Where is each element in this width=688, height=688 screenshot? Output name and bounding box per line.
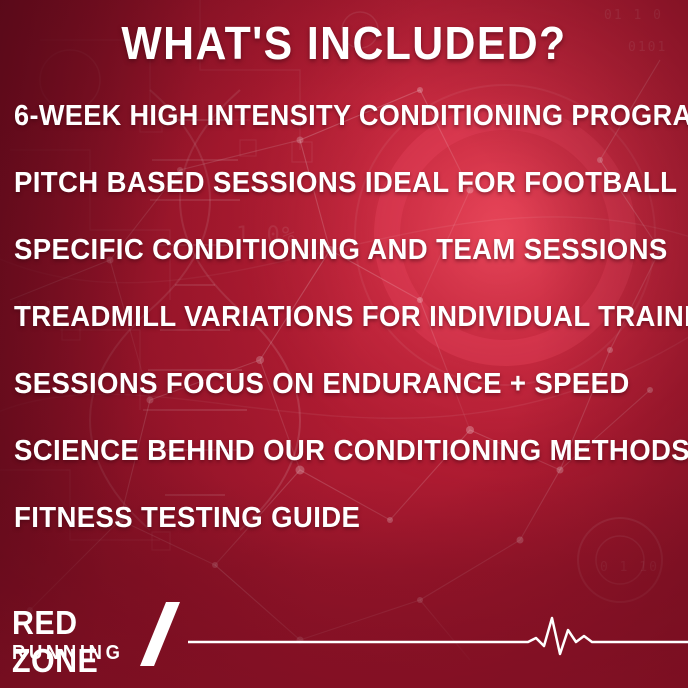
- logo-line-secondary: RUNNING: [12, 642, 124, 665]
- list-item: SPECIFIC CONDITIONING AND TEAM SESSIONS: [14, 234, 641, 266]
- list-item: SCIENCE BEHIND OUR CONDITIONING METHODS: [14, 435, 641, 467]
- page-title: WHAT'S INCLUDED?: [24, 16, 664, 70]
- poster-canvas: 01 1 0 0101 1 0% 10 1 0 1 10 WHAT'S INCL…: [0, 0, 688, 688]
- footer: RED ZONE RUNNING: [12, 596, 676, 670]
- list-item: PITCH BASED SESSIONS IDEAL FOR FOOTBALL: [14, 167, 641, 199]
- brand-logo: RED ZONE RUNNING: [12, 604, 182, 670]
- included-list: 6-WEEK HIGH INTENSITY CONDITIONING PROGR…: [14, 100, 674, 569]
- heartbeat-line-icon: [188, 608, 688, 660]
- list-item: FITNESS TESTING GUIDE: [14, 502, 641, 534]
- list-item: SESSIONS FOCUS ON ENDURANCE + SPEED: [14, 368, 641, 400]
- poster-content: WHAT'S INCLUDED? 6-WEEK HIGH INTENSITY C…: [0, 0, 688, 688]
- list-item: 6-WEEK HIGH INTENSITY CONDITIONING PROGR…: [14, 100, 641, 132]
- logo-slash-icon: [140, 602, 180, 666]
- list-item: TREADMILL VARIATIONS FOR INDIVIDUAL TRAI…: [14, 301, 641, 333]
